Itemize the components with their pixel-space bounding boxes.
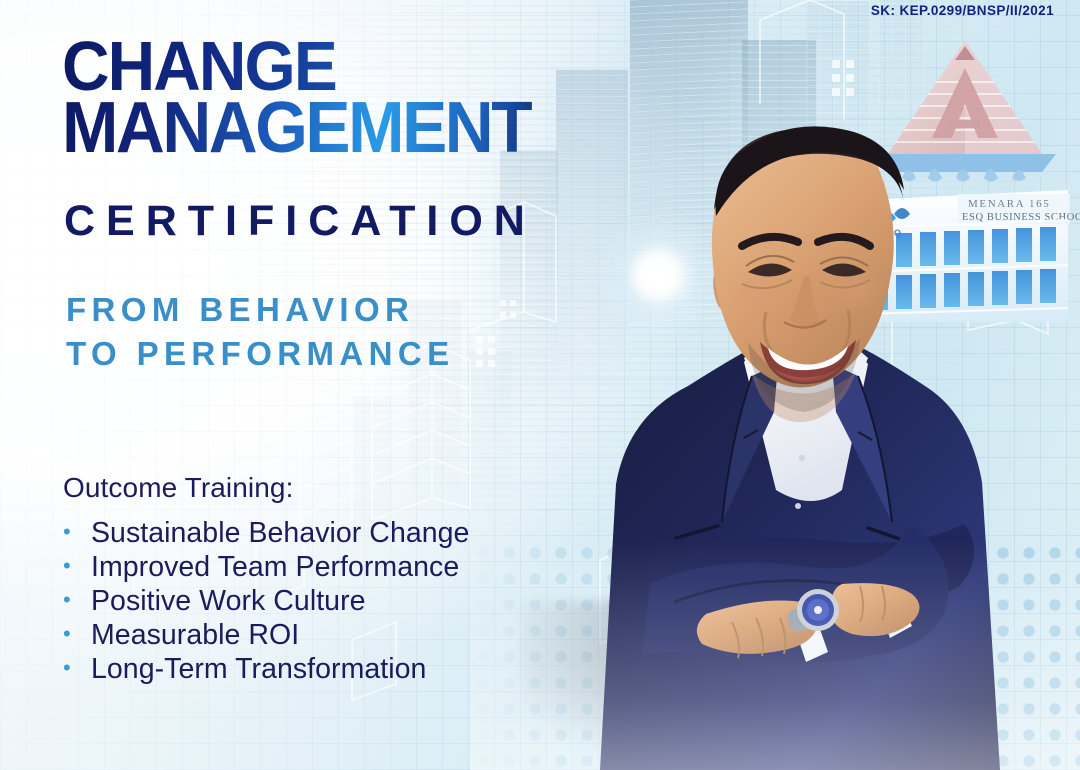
bullet-icon: •: [63, 521, 91, 543]
outcome-label: Improved Team Performance: [91, 552, 459, 584]
outcome-heading: Outcome Training:: [63, 472, 293, 504]
accreditation-number: SK: KEP.0299/BNSP/II/2021: [871, 3, 1054, 18]
headline-management: MANAGEMENT: [62, 98, 645, 160]
bullet-icon: •: [63, 657, 91, 679]
bullet-icon: •: [63, 555, 91, 577]
headline-block: CHANGE MANAGEMENT: [62, 36, 682, 160]
list-item: •Long-Term Transformation: [63, 654, 469, 686]
halftone-fade-overlay: [470, 540, 1080, 770]
list-item: •Measurable ROI: [63, 620, 469, 652]
outcome-label: Long-Term Transformation: [91, 654, 426, 686]
headline-change: CHANGE: [62, 36, 645, 96]
tagline-line-2: TO PERFORMANCE: [66, 332, 455, 376]
list-item: •Positive Work Culture: [63, 586, 469, 618]
outcome-label: Sustainable Behavior Change: [91, 518, 469, 550]
bullet-icon: •: [63, 589, 91, 611]
list-item: •Sustainable Behavior Change: [63, 518, 469, 550]
bullet-icon: •: [63, 623, 91, 645]
outcome-label: Measurable ROI: [91, 620, 299, 652]
tagline-block: FROM BEHAVIOR TO PERFORMANCE: [66, 288, 455, 376]
list-item: •Improved Team Performance: [63, 552, 469, 584]
poster-canvas: MENARA 165 ESQ BUSINESS SCHOOL ESQ: [0, 0, 1080, 770]
outcome-label: Positive Work Culture: [91, 586, 366, 618]
certification-word: CERTIFICATION: [64, 197, 536, 246]
outcome-list: •Sustainable Behavior Change•Improved Te…: [63, 518, 469, 688]
tagline-line-1: FROM BEHAVIOR: [66, 288, 455, 332]
